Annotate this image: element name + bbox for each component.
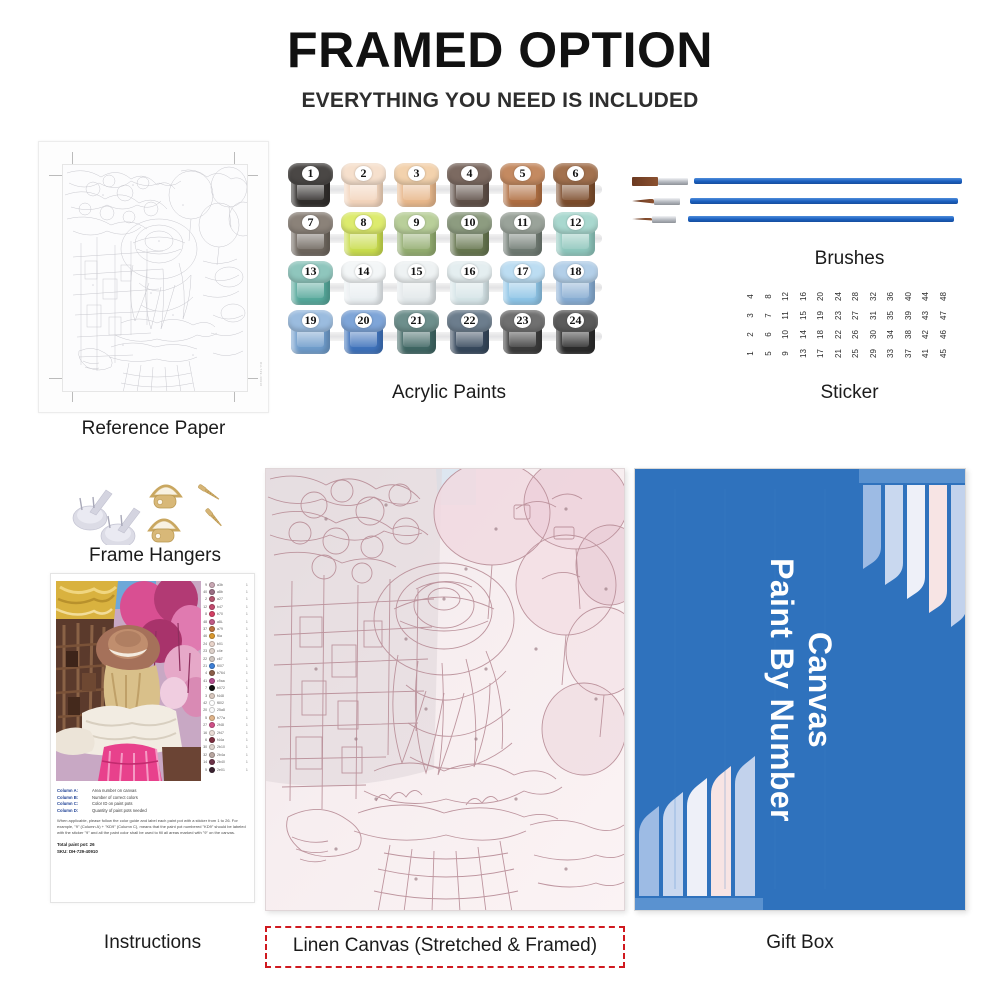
paint-pot-10: 10: [447, 212, 492, 258]
instructions-column-value: Color ID on paint pots: [92, 801, 133, 806]
sticker-number: 5: [759, 345, 778, 362]
legend-color-swatch: [209, 611, 215, 617]
sticker-number: 32: [864, 288, 883, 305]
legend-row: 46f6a1: [200, 633, 250, 640]
sticker-number: 8: [759, 288, 778, 305]
legend-area-number: 8: [200, 612, 207, 616]
paint-brush-2: [632, 194, 962, 208]
legend-row: 2025a81: [200, 707, 250, 714]
legend-color-swatch: [209, 759, 215, 765]
instructions-column-value: Number of correct colors: [92, 795, 138, 800]
sticker-number: 11: [776, 307, 795, 324]
sticker-number: 20: [811, 288, 830, 305]
legend-color-code: a8L: [217, 620, 244, 624]
legend-color-swatch: [209, 767, 215, 773]
paint-pot-number: 5: [500, 163, 545, 184]
caption-gift-box: Gift Box: [634, 932, 966, 954]
instructions-column-value: Quantity of paint pots needed: [92, 808, 147, 813]
legend-area-number: 42: [200, 701, 207, 705]
sticker-number: 31: [864, 307, 883, 324]
legend-quantity: 1: [246, 671, 250, 675]
paint-pot-23: 23: [500, 310, 545, 356]
legend-color-swatch: [209, 752, 215, 758]
sticker-number: 43: [916, 307, 935, 324]
brush-handle: [694, 178, 962, 184]
brush-ferrule: [658, 178, 688, 185]
paint-pot-7: 7: [288, 212, 333, 258]
legend-quantity: 1: [246, 768, 250, 772]
brush-bristles: [632, 218, 652, 221]
paint-pot-number: 7: [288, 212, 333, 233]
legend-color-code: 2f48: [217, 723, 244, 727]
legend-quantity: 1: [246, 597, 250, 601]
legend-color-swatch: [209, 619, 215, 625]
legend-color-swatch: [209, 693, 215, 699]
legend-area-number: 23: [200, 649, 207, 653]
paint-pot-number: 14: [341, 261, 386, 282]
paint-pot-number: 12: [553, 212, 598, 233]
instructions-column-line: Column C:Color ID on paint pots: [57, 801, 249, 806]
paint-pot-number: 9: [394, 212, 439, 233]
paint-pot-number: 19: [288, 310, 333, 331]
sticker-number: 6: [759, 326, 778, 343]
paint-pot-14: 14: [341, 261, 386, 307]
legend-quantity: 1: [246, 731, 250, 735]
sticker-column: 4321: [742, 287, 759, 365]
legend-quantity: 1: [246, 760, 250, 764]
sticker-column: 44434241: [917, 287, 934, 365]
paint-pot-4: 4: [447, 163, 492, 209]
sticker-number: 18: [811, 326, 830, 343]
legend-row: 6f44a1: [200, 736, 250, 743]
instructions-color-legend: 9a3b140a8b12a27112b4718b70148a8L137a7914…: [200, 581, 250, 781]
paint-pot-21: 21: [394, 310, 439, 356]
caption-frame-hangers: Frame Hangers: [30, 545, 280, 567]
sticker-number: 16: [794, 288, 813, 305]
sticker-number: 24: [829, 288, 848, 305]
total-paint-pot-value: 26: [90, 842, 95, 847]
legend-row: 41c9aa1: [200, 677, 250, 684]
legend-row: 12b471: [200, 603, 250, 610]
paint-pot-number: 20: [341, 310, 386, 331]
gift-box-title-line-1: Canvas: [800, 558, 838, 822]
sticker-column: 32313029: [865, 287, 882, 365]
paint-pot-8: 8: [341, 212, 386, 258]
sticker-number: 19: [811, 307, 830, 324]
brush-ferrule: [652, 216, 676, 223]
legend-area-number: 30: [200, 745, 207, 749]
legend-quantity: 1: [246, 723, 250, 727]
paint-pot-number: 4: [447, 163, 492, 184]
instructions-column-key: Column D:: [57, 808, 87, 813]
legend-color-swatch: [209, 596, 215, 602]
paint-pot-22: 22: [447, 310, 492, 356]
page-subtitle: EVERYTHING YOU NEED IS INCLUDED: [0, 89, 1000, 113]
paint-pot-11: 11: [500, 212, 545, 258]
legend-color-swatch: [209, 700, 215, 706]
page-title: FRAMED OPTION: [0, 24, 1000, 77]
paint-pot-15: 15: [394, 261, 439, 307]
legend-area-number: 27: [200, 723, 207, 727]
legend-color-code: c9aa: [217, 679, 244, 683]
sticker-number: 14: [794, 326, 813, 343]
legend-color-code: f44a: [217, 738, 244, 742]
sticker-number: 10: [776, 326, 795, 343]
legend-color-code: b77a: [217, 716, 244, 720]
sticker-column: 28272625: [847, 287, 864, 365]
legend-quantity: 1: [246, 590, 250, 594]
legend-area-number: 46: [200, 634, 207, 638]
frame-hangers-image: [60, 470, 250, 545]
instructions-artwork: [56, 581, 201, 781]
legend-quantity: 1: [246, 649, 250, 653]
legend-color-swatch: [209, 715, 215, 721]
sticker-column: 48474645: [935, 287, 952, 365]
reference-paper-image: DH-729-40910: [38, 141, 269, 413]
sticker-number: 3: [741, 307, 760, 324]
paint-pot-18: 18: [553, 261, 598, 307]
legend-color-code: b764: [217, 671, 244, 675]
legend-row: 24b011: [200, 640, 250, 647]
sku-value: DH-729-40910: [69, 849, 98, 854]
legend-row: 162f471: [200, 729, 250, 736]
legend-color-swatch: [209, 737, 215, 743]
sticker-number: 30: [864, 326, 883, 343]
legend-area-number: 2: [200, 597, 207, 601]
paint-pot-9: 9: [394, 212, 439, 258]
legend-area-number: 12: [200, 605, 207, 609]
instructions-column-key: Column A:: [57, 788, 87, 793]
legend-area-number: 9: [200, 583, 207, 587]
paint-brush-1: [632, 174, 962, 188]
sticker-number: 1: [741, 345, 760, 362]
gift-box-title: Canvas Paint By Number: [762, 558, 838, 822]
legend-area-number: 6: [200, 738, 207, 742]
legend-color-swatch: [209, 589, 215, 595]
legend-quantity: 1: [246, 605, 250, 609]
paint-pot-number: 6: [553, 163, 598, 184]
legend-color-code: f448: [217, 694, 244, 698]
legend-color-swatch: [209, 670, 215, 676]
legend-color-code: c4e: [217, 649, 244, 653]
paint-pot-number: 23: [500, 310, 545, 331]
product-infographic: FRAMED OPTION EVERYTHING YOU NEED IS INC…: [0, 0, 1000, 1000]
sticker-number: 13: [794, 345, 813, 362]
legend-color-code: 2b10: [217, 745, 244, 749]
sticker-number: 38: [899, 326, 918, 343]
brushes-image: [632, 168, 962, 248]
sticker-number: 15: [794, 307, 813, 324]
legend-area-number: 48: [200, 620, 207, 624]
legend-quantity: 1: [246, 708, 250, 712]
legend-color-swatch: [209, 730, 215, 736]
sticker-sheet-image: 4321876512111091615141320191817242322212…: [742, 287, 957, 365]
legend-color-code: a79: [217, 627, 244, 631]
legend-area-number: 5: [200, 768, 207, 772]
paint-pot-number: 1: [288, 163, 333, 184]
paint-pot-row: 123456: [288, 163, 610, 209]
paint-pot-number: 22: [447, 310, 492, 331]
caption-acrylic-paints: Acrylic Paints: [288, 382, 610, 404]
legend-area-number: 24: [200, 642, 207, 646]
instructions-sheet-image: 9a3b140a8b12a27112b4718b70148a8L137a7914…: [50, 573, 255, 903]
paint-pot-17: 17: [500, 261, 545, 307]
legend-color-code: f802: [217, 701, 244, 705]
sticker-number: 7: [759, 307, 778, 324]
paint-pot-number: 17: [500, 261, 545, 282]
caption-reference-paper: Reference Paper: [38, 418, 269, 440]
legend-color-code: 2f47: [217, 731, 244, 735]
instructions-column-line: Column B:Number of correct colors: [57, 795, 249, 800]
instructions-paragraph: When applicable, please follow the color…: [57, 818, 249, 837]
legend-color-code: a3b: [217, 583, 244, 587]
acrylic-paints-image: 123456789101112131415161718192021222324: [288, 163, 610, 361]
legend-row: 4b7641: [200, 670, 250, 677]
sticker-number: 9: [776, 345, 795, 362]
legend-area-number: 14: [200, 760, 207, 764]
legend-color-code: 2b4a: [217, 753, 244, 757]
legend-color-code: b47: [217, 605, 244, 609]
instructions-column-legend: Column A:Area number on canvasColumn B:N…: [57, 788, 249, 813]
sticker-number: 2: [741, 326, 760, 343]
brush-bristles: [632, 177, 658, 186]
legend-color-code: b70: [217, 612, 244, 616]
legend-color-code: c67: [217, 657, 244, 661]
caption-linen-canvas: Linen Canvas (Stretched & Framed): [265, 926, 625, 968]
legend-row: 23c4e1: [200, 648, 250, 655]
sticker-number: 44: [916, 288, 935, 305]
legend-color-code: b01: [217, 642, 244, 646]
sticker-column: 36353433: [882, 287, 899, 365]
paint-pot-number: 21: [394, 310, 439, 331]
legend-quantity: 1: [246, 634, 250, 638]
legend-quantity: 1: [246, 686, 250, 690]
legend-area-number: 37: [200, 627, 207, 631]
legend-quantity: 1: [246, 745, 250, 749]
legend-area-number: 41: [200, 679, 207, 683]
legend-area-number: 16: [200, 731, 207, 735]
sticker-number: 40: [899, 288, 918, 305]
paint-pot-5: 5: [500, 163, 545, 209]
legend-color-swatch: [209, 648, 215, 654]
caption-brushes: Brushes: [742, 248, 957, 270]
sticker-column: 8765: [760, 287, 777, 365]
sticker-number: 46: [934, 326, 953, 343]
legend-quantity: 1: [246, 679, 250, 683]
caption-instructions: Instructions: [40, 932, 265, 954]
sticker-column: 16151413: [795, 287, 812, 365]
legend-color-swatch: [209, 707, 215, 713]
gift-box-title-line-2: Paint By Number: [762, 558, 800, 822]
legend-row: 9a3b1: [200, 581, 250, 588]
paint-pot-row: 789101112: [288, 212, 610, 258]
gift-box-image: Canvas Paint By Number: [634, 468, 966, 911]
sticker-number: 37: [899, 345, 918, 362]
legend-row: 322b4a1: [200, 751, 250, 758]
legend-color-swatch: [209, 656, 215, 662]
sticker-number: 12: [776, 288, 795, 305]
legend-color-swatch: [209, 633, 215, 639]
sticker-number: 34: [881, 326, 900, 343]
sticker-number: 45: [934, 345, 953, 362]
legend-area-number: 7: [200, 686, 207, 690]
legend-row: 302b101: [200, 744, 250, 751]
legend-quantity: 1: [246, 620, 250, 624]
legend-quantity: 1: [246, 716, 250, 720]
legend-color-swatch: [209, 663, 215, 669]
paint-pot-13: 13: [288, 261, 333, 307]
legend-area-number: 4: [200, 671, 207, 675]
instructions-column-key: Column B:: [57, 795, 87, 800]
total-paint-pot-label: Total paint pot:: [57, 842, 88, 847]
legend-quantity: 1: [246, 738, 250, 742]
legend-row: 40a8b1: [200, 588, 250, 595]
sticker-number: 36: [881, 288, 900, 305]
paint-pot-3: 3: [394, 163, 439, 209]
sticker-number: 26: [846, 326, 865, 343]
legend-area-number: 22: [200, 657, 207, 661]
legend-area-number: 40: [200, 590, 207, 594]
sticker-column: 20191817: [812, 287, 829, 365]
instructions-totals: Total paint pot: 26 SKU: DH-729-40910: [57, 842, 249, 854]
paint-pot-row: 192021222324: [288, 310, 610, 356]
paint-pot-row: 131415161718: [288, 261, 610, 307]
sticker-column: 1211109: [777, 287, 794, 365]
sticker-number: 28: [846, 288, 865, 305]
sticker-number: 41: [916, 345, 935, 362]
paint-pot-6: 6: [553, 163, 598, 209]
header: FRAMED OPTION EVERYTHING YOU NEED IS INC…: [0, 24, 1000, 113]
legend-row: 52e011: [200, 766, 250, 773]
paint-pot-number: 15: [394, 261, 439, 282]
paint-pot-2: 2: [341, 163, 386, 209]
brush-bristles: [632, 199, 654, 204]
legend-color-code: f007: [217, 664, 244, 668]
paint-pot-number: 13: [288, 261, 333, 282]
sticker-number: 25: [846, 345, 865, 362]
legend-quantity: 1: [246, 583, 250, 587]
legend-quantity: 1: [246, 612, 250, 616]
legend-quantity: 1: [246, 694, 250, 698]
legend-row: 2a271: [200, 596, 250, 603]
legend-color-code: 2b40: [217, 760, 244, 764]
legend-color-swatch: [209, 626, 215, 632]
caption-sticker: Sticker: [742, 382, 957, 404]
legend-color-code: 25a8: [217, 708, 244, 712]
legend-row: 8b701: [200, 611, 250, 618]
legend-color-code: 2e01: [217, 768, 244, 772]
legend-row: 5b77a1: [200, 714, 250, 721]
brush-ferrule: [654, 198, 680, 205]
legend-row: 142b401: [200, 759, 250, 766]
legend-area-number: 32: [200, 753, 207, 757]
legend-row: 48a8L1: [200, 618, 250, 625]
paint-pot-1: 1: [288, 163, 333, 209]
paint-pot-12: 12: [553, 212, 598, 258]
sticker-number: 17: [811, 345, 830, 362]
instructions-column-key: Column C:: [57, 801, 87, 806]
reference-paper-sidecode: DH-729-40910: [259, 362, 263, 386]
legend-quantity: 1: [246, 753, 250, 757]
paint-pot-number: 24: [553, 310, 598, 331]
sticker-number: 48: [934, 288, 953, 305]
legend-quantity: 1: [246, 701, 250, 705]
instructions-column-line: Column A:Area number on canvas: [57, 788, 249, 793]
instructions-text-block: Column A:Area number on canvasColumn B:N…: [57, 788, 249, 855]
brush-handle: [688, 216, 954, 222]
paint-pot-number: 18: [553, 261, 598, 282]
linen-canvas-image: [265, 468, 625, 911]
sticker-column: 40393837: [900, 287, 917, 365]
sticker-number: 42: [916, 326, 935, 343]
legend-area-number: 20: [200, 708, 207, 712]
legend-color-code: f6a: [217, 634, 244, 638]
sticker-number: 21: [829, 345, 848, 362]
paint-pot-number: 11: [500, 212, 545, 233]
legend-quantity: 1: [246, 642, 250, 646]
legend-color-swatch: [209, 604, 215, 610]
paint-pot-number: 2: [341, 163, 386, 184]
sticker-column: 24232221: [830, 287, 847, 365]
sticker-number: 27: [846, 307, 865, 324]
reference-line-art: [62, 164, 248, 392]
legend-quantity: 1: [246, 664, 250, 668]
paint-pot-20: 20: [341, 310, 386, 356]
paint-pot-19: 19: [288, 310, 333, 356]
legend-row: 272f481: [200, 722, 250, 729]
legend-area-number: 3: [200, 694, 207, 698]
legend-quantity: 1: [246, 657, 250, 661]
sticker-number: 33: [881, 345, 900, 362]
brush-handle: [690, 198, 958, 204]
legend-row: 3f4481: [200, 692, 250, 699]
legend-row: 22c671: [200, 655, 250, 662]
sticker-number: 23: [829, 307, 848, 324]
sticker-number: 4: [741, 288, 760, 305]
total-paint-pot-line: Total paint pot: 26: [57, 842, 249, 847]
legend-color-swatch: [209, 678, 215, 684]
paint-pot-16: 16: [447, 261, 492, 307]
legend-color-swatch: [209, 744, 215, 750]
legend-area-number: 5: [200, 716, 207, 720]
instructions-column-line: Column D:Quantity of paint pots needed: [57, 808, 249, 813]
legend-color-swatch: [209, 582, 215, 588]
legend-color-swatch: [209, 685, 215, 691]
paint-pot-number: 3: [394, 163, 439, 184]
instructions-column-value: Area number on canvas: [92, 788, 136, 793]
legend-color-code: a8b: [217, 590, 244, 594]
legend-row: 37a791: [200, 625, 250, 632]
paint-brush-3: [632, 212, 962, 226]
legend-color-swatch: [209, 722, 215, 728]
sticker-number: 39: [899, 307, 918, 324]
sku-line: SKU: DH-729-40910: [57, 849, 249, 854]
legend-area-number: 21: [200, 664, 207, 668]
paint-pot-number: 16: [447, 261, 492, 282]
sticker-number: 47: [934, 307, 953, 324]
legend-color-swatch: [209, 641, 215, 647]
legend-color-code: b072: [217, 686, 244, 690]
sticker-number: 29: [864, 345, 883, 362]
legend-row: 42f8021: [200, 699, 250, 706]
legend-quantity: 1: [246, 627, 250, 631]
paint-pot-24: 24: [553, 310, 598, 356]
sticker-number: 35: [881, 307, 900, 324]
legend-color-code: a27: [217, 597, 244, 601]
sticker-number: 22: [829, 326, 848, 343]
paint-pot-number: 8: [341, 212, 386, 233]
paint-pot-number: 10: [447, 212, 492, 233]
